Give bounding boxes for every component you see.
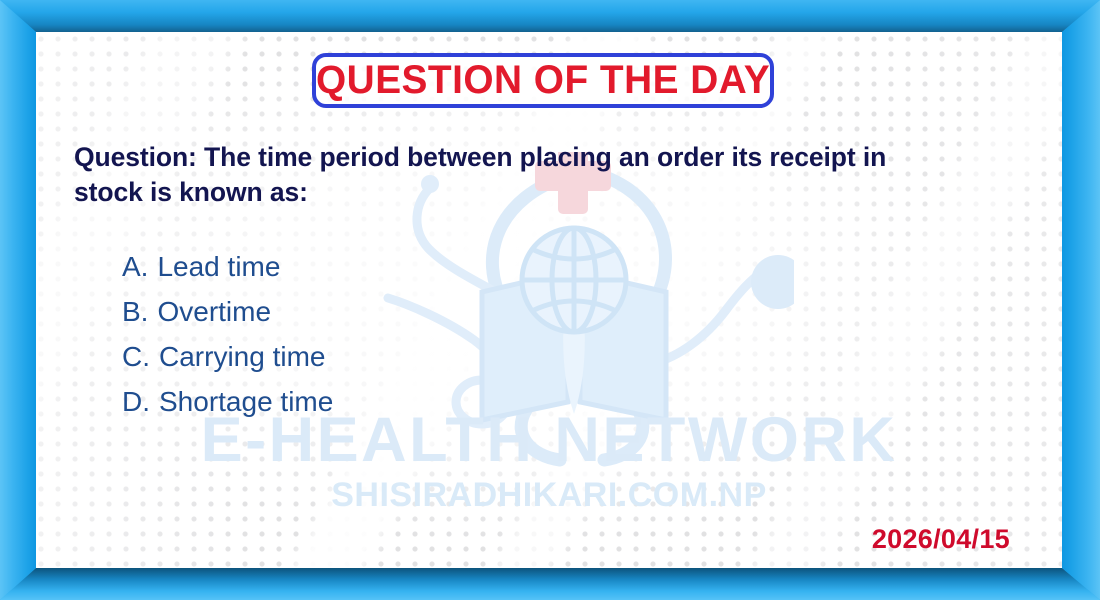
option-label-c: Carrying time (159, 334, 325, 379)
option-letter-b: B. (122, 289, 148, 334)
option-letter-c: C. (122, 334, 150, 379)
question-text: Question: The time period between placin… (74, 140, 959, 210)
option-row-d[interactable]: D. Shortage time (122, 379, 822, 424)
option-row-c[interactable]: C. Carrying time (122, 334, 822, 379)
option-row-b[interactable]: B. Overtime (122, 289, 822, 334)
slide-root: E-HEALTH NETWORK SHISIRADHIKARI.COM.NP Q… (0, 0, 1100, 600)
frame-border-top (0, 0, 1100, 32)
page-title: QUESTION OF THE DAY (316, 58, 770, 103)
option-letter-d: D. (122, 379, 150, 424)
date-stamp: 2026/04/15 (872, 524, 1010, 555)
options-list: A. Lead time B. Overtime C. Carrying tim… (122, 244, 822, 424)
frame-border-left (0, 0, 36, 600)
option-letter-a: A. (122, 244, 148, 289)
watermark-secondary: SHISIRADHIKARI.COM.NP (36, 476, 1062, 515)
option-label-b: Overtime (157, 289, 271, 334)
option-label-d: Shortage time (159, 379, 333, 424)
frame-border-right (1062, 0, 1100, 600)
content-panel: E-HEALTH NETWORK SHISIRADHIKARI.COM.NP Q… (36, 32, 1062, 568)
option-label-a: Lead time (157, 244, 280, 289)
frame-border-bottom (0, 568, 1100, 600)
title-banner: QUESTION OF THE DAY (312, 53, 774, 108)
option-row-a[interactable]: A. Lead time (122, 244, 822, 289)
